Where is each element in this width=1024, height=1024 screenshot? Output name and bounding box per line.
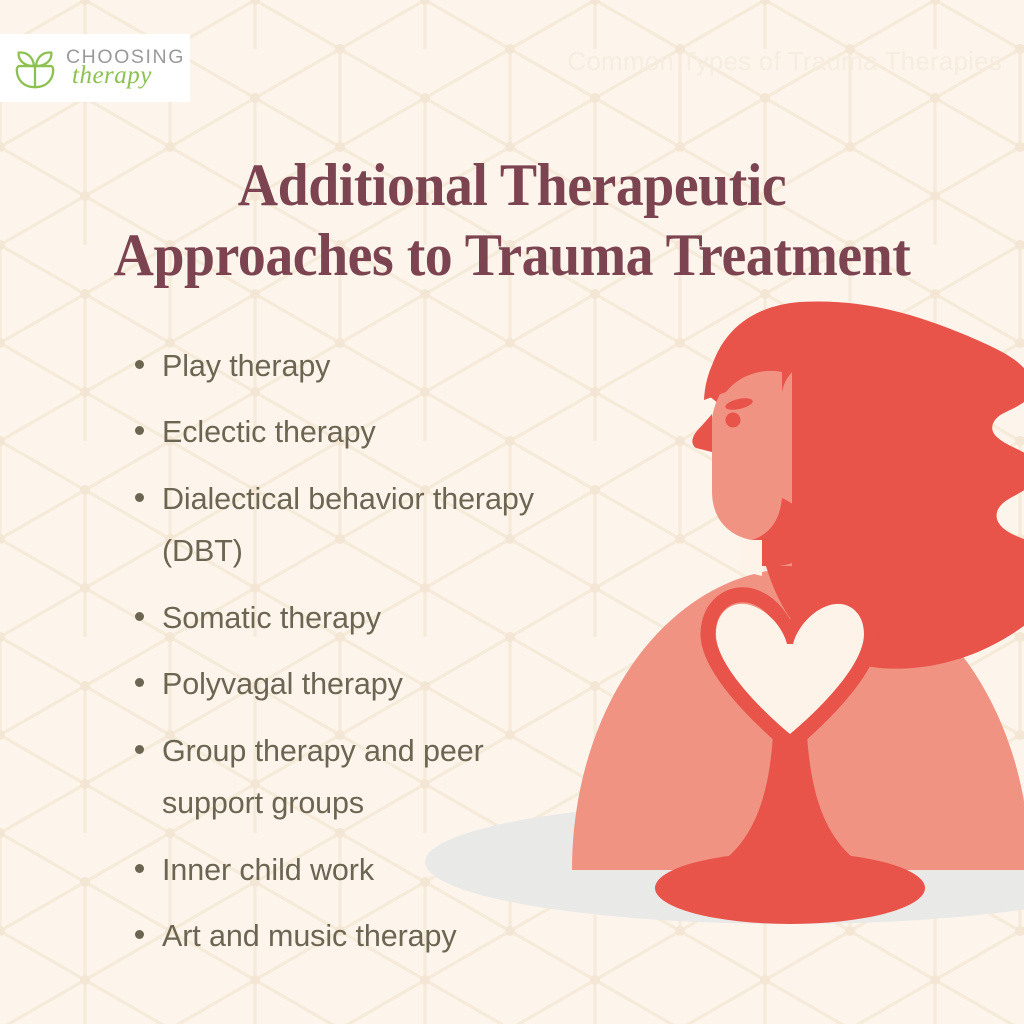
list-item: Polyvagal therapy	[130, 658, 590, 710]
woman-neck-shadow	[752, 498, 818, 566]
woman-body	[572, 568, 1024, 870]
lotus-leaf-icon	[12, 45, 58, 91]
woman-nose	[692, 414, 712, 452]
woman-eyebrow	[724, 396, 754, 412]
header-kicker: Common Types of Trauma Therapies	[567, 46, 1002, 77]
woman-head-profile	[695, 356, 792, 566]
woman-eye	[726, 413, 741, 428]
chin-shoulder-notch	[738, 540, 762, 576]
page-title-line-1: Additional Therapeutic	[84, 150, 940, 220]
infographic-poster: CHOOSING therapy Common Types of Trauma …	[0, 0, 1024, 1024]
goblet-stem	[716, 700, 864, 866]
list-item: Art and music therapy	[130, 910, 590, 962]
list-item: Eclectic therapy	[130, 406, 590, 458]
woman-hair	[706, 301, 1024, 668]
goblet-liquid-highlight	[716, 604, 864, 734]
woman-hair-fringe	[704, 304, 900, 400]
list-item: Group therapy and peer support groups	[130, 725, 590, 830]
page-title: Additional Therapeutic Approaches to Tra…	[36, 150, 988, 290]
logo-script-text: therapy	[72, 63, 185, 88]
heart-shaped-goblet	[708, 595, 872, 744]
list-item: Play therapy	[130, 340, 590, 392]
list-item: Dialectical behavior therapy (DBT)	[130, 473, 590, 578]
page-title-line-2: Approaches to Trauma Treatment	[84, 220, 940, 290]
goblet-base	[655, 852, 925, 924]
list-item: Inner child work	[130, 844, 590, 896]
choosing-therapy-logo[interactable]: CHOOSING therapy	[0, 34, 190, 102]
list-item: Somatic therapy	[130, 592, 590, 644]
therapy-approaches-list: Play therapy Eclectic therapy Dialectica…	[130, 340, 590, 977]
